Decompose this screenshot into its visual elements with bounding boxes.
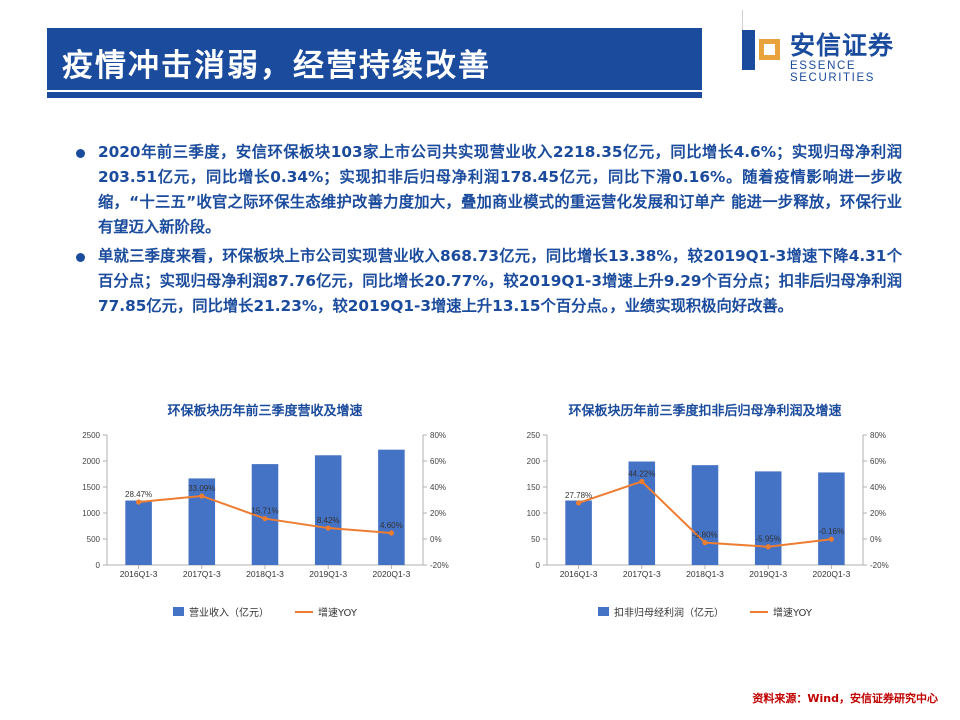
svg-text:80%: 80% <box>430 431 446 440</box>
svg-text:2500: 2500 <box>82 431 100 440</box>
bullet-dot-icon <box>76 149 85 158</box>
svg-text:1000: 1000 <box>82 509 100 518</box>
svg-text:2020Q1-3: 2020Q1-3 <box>812 569 850 579</box>
svg-text:-20%: -20% <box>870 561 889 570</box>
svg-text:8.42%: 8.42% <box>317 516 340 525</box>
legend-swatch-bar-icon <box>598 607 609 616</box>
svg-text:4.60%: 4.60% <box>380 521 403 530</box>
svg-text:33.09%: 33.09% <box>188 484 215 493</box>
svg-text:20%: 20% <box>430 509 446 518</box>
legend-label: 扣非归母经利润（亿元） <box>614 604 724 619</box>
svg-text:60%: 60% <box>870 457 886 466</box>
bullet-dot-icon <box>76 253 85 262</box>
chart-legend: 营业收入（亿元） 增速YOY <box>55 604 475 619</box>
legend-label: 增速YOY <box>318 604 357 619</box>
legend-item-line: 增速YOY <box>750 604 812 619</box>
svg-text:0%: 0% <box>870 535 882 544</box>
chart-revenue: 环保板块历年前三季度营收及增速 0-20%5000%100020%150040%… <box>55 400 475 670</box>
chart-net-profit: 环保板块历年前三季度扣非后归母净利润及增速 0-20%500%10020%150… <box>495 400 915 670</box>
svg-text:28.47%: 28.47% <box>125 490 152 499</box>
svg-text:80%: 80% <box>870 431 886 440</box>
slide-header: 疫情冲击消弱，经营持续改善 安信证券 ESSENCE SECURITIES <box>0 0 960 100</box>
bullet-text: 2020年前三季度，安信环保板块103家上市公司共实现营业收入2218.35亿元… <box>98 140 902 240</box>
svg-text:150: 150 <box>527 483 541 492</box>
legend-label: 营业收入（亿元） <box>189 604 269 619</box>
svg-text:60%: 60% <box>430 457 446 466</box>
svg-text:2000: 2000 <box>82 457 100 466</box>
chart-plot-area: 0-20%5000%100020%150040%200060%250080%20… <box>55 425 475 600</box>
logo-company-en: ESSENCE SECURITIES <box>790 60 942 84</box>
list-item: 2020年前三季度，安信环保板块103家上市公司共实现营业收入2218.35亿元… <box>72 140 902 240</box>
svg-text:0: 0 <box>536 561 541 570</box>
svg-text:0%: 0% <box>430 535 442 544</box>
svg-text:27.78%: 27.78% <box>565 491 592 500</box>
svg-text:40%: 40% <box>870 483 886 492</box>
svg-text:2020Q1-3: 2020Q1-3 <box>372 569 410 579</box>
chart-title: 环保板块历年前三季度扣非后归母净利润及增速 <box>495 400 915 419</box>
svg-text:2018Q1-3: 2018Q1-3 <box>246 569 284 579</box>
svg-text:44.22%: 44.22% <box>628 470 655 479</box>
svg-text:0: 0 <box>96 561 101 570</box>
legend-item-bar: 扣非归母经利润（亿元） <box>598 604 724 619</box>
svg-text:2016Q1-3: 2016Q1-3 <box>560 569 598 579</box>
svg-text:20%: 20% <box>870 509 886 518</box>
legend-item-bar: 营业收入（亿元） <box>173 604 269 619</box>
legend-item-line: 增速YOY <box>295 604 357 619</box>
svg-text:250: 250 <box>527 431 541 440</box>
svg-text:200: 200 <box>527 457 541 466</box>
svg-text:500: 500 <box>87 535 101 544</box>
svg-text:50: 50 <box>531 535 540 544</box>
page-title: 疫情冲击消弱，经营持续改善 <box>62 40 491 85</box>
legend-label: 增速YOY <box>773 604 812 619</box>
legend-swatch-bar-icon <box>173 607 184 616</box>
brand-logo: 安信证券 ESSENCE SECURITIES <box>742 24 942 82</box>
svg-text:100: 100 <box>527 509 541 518</box>
svg-text:2016Q1-3: 2016Q1-3 <box>120 569 158 579</box>
svg-text:2017Q1-3: 2017Q1-3 <box>623 569 661 579</box>
chart-svg: 0-20%500%10020%15040%20060%25080%2016Q1-… <box>495 425 915 600</box>
svg-text:2019Q1-3: 2019Q1-3 <box>749 569 787 579</box>
chart-legend: 扣非归母经利润（亿元） 增速YOY <box>495 604 915 619</box>
svg-text:1500: 1500 <box>82 483 100 492</box>
chart-title: 环保板块历年前三季度营收及增速 <box>55 400 475 419</box>
list-item: 单就三季度来看，环保板块上市公司实现营业收入868.73亿元，同比增长13.38… <box>72 244 902 319</box>
legend-swatch-line-icon <box>295 611 313 613</box>
logo-company-cn: 安信证券 <box>790 26 894 62</box>
logo-mark-icon <box>742 30 780 70</box>
svg-text:-20%: -20% <box>430 561 449 570</box>
svg-text:15.71%: 15.71% <box>251 507 278 516</box>
svg-text:2017Q1-3: 2017Q1-3 <box>183 569 221 579</box>
bullet-text: 单就三季度来看，环保板块上市公司实现营业收入868.73亿元，同比增长13.38… <box>98 244 902 319</box>
svg-text:-2.80%: -2.80% <box>692 531 717 540</box>
chart-plot-area: 0-20%500%10020%15040%20060%25080%2016Q1-… <box>495 425 915 600</box>
source-note: 资料来源：Wind，安信证券研究中心 <box>752 690 938 706</box>
svg-text:-5.95%: -5.95% <box>756 535 781 544</box>
chart-svg: 0-20%5000%100020%150040%200060%250080%20… <box>55 425 475 600</box>
svg-text:40%: 40% <box>430 483 446 492</box>
svg-text:2018Q1-3: 2018Q1-3 <box>686 569 724 579</box>
svg-text:-0.16%: -0.16% <box>819 527 844 536</box>
svg-text:2019Q1-3: 2019Q1-3 <box>309 569 347 579</box>
legend-swatch-line-icon <box>750 611 768 613</box>
title-underline <box>47 92 702 98</box>
bullet-list: 2020年前三季度，安信环保板块103家上市公司共实现营业收入2218.35亿元… <box>72 140 902 323</box>
